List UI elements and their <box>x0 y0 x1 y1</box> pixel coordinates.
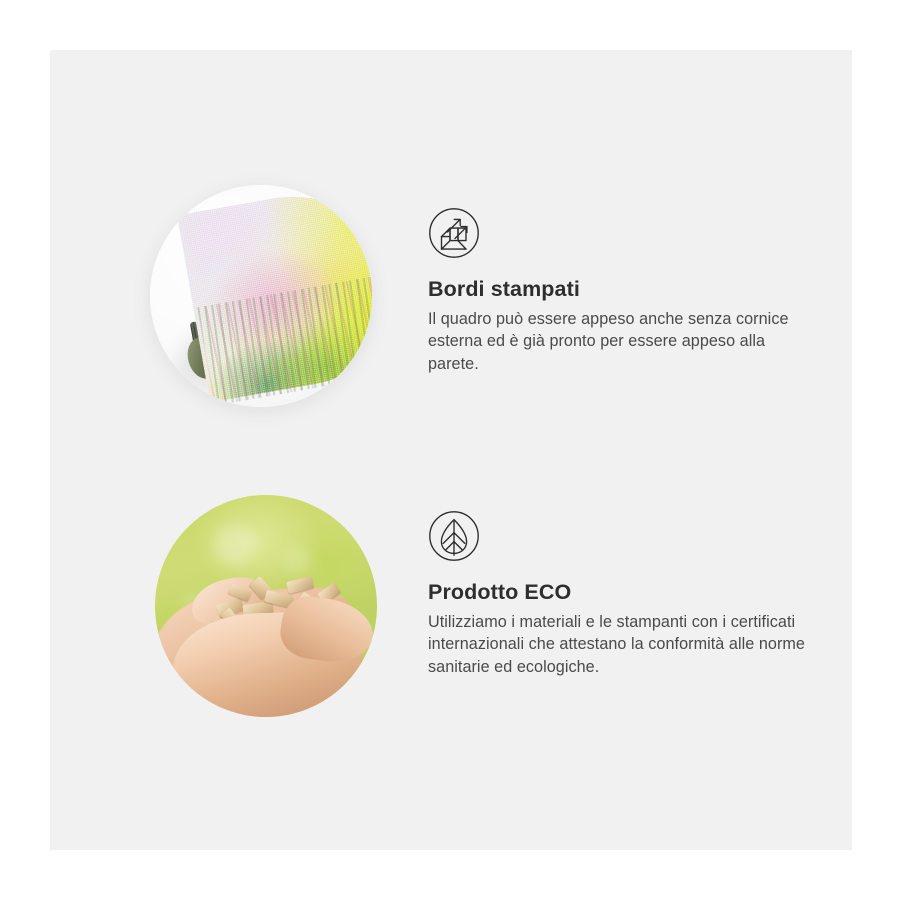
bokeh-highlight <box>283 547 313 575</box>
grass-background <box>155 495 377 717</box>
printed-canvas-corner-photo <box>150 185 372 407</box>
feature-description: Il quadro può essere appeso anche senza … <box>428 308 808 375</box>
product-feature-page: Bordi stampati Il quadro può essere appe… <box>0 0 900 900</box>
feature-title: Prodotto ECO <box>428 580 571 605</box>
hands-holding-wood-chips-photo <box>155 495 377 717</box>
content-panel: Bordi stampati Il quadro può essere appe… <box>50 50 852 850</box>
leaf-icon <box>428 510 480 562</box>
feature-description: Utilizziamo i materiali e le stampanti c… <box>428 611 808 678</box>
feature-title: Bordi stampati <box>428 277 580 302</box>
feature-row-printed-edges: Bordi stampati Il quadro può essere appe… <box>50 185 852 455</box>
feature-row-eco-product: Prodotto ECO Utilizziamo i materiali e l… <box>50 475 852 745</box>
bokeh-highlight <box>213 525 257 565</box>
canvas-slab <box>150 185 372 407</box>
canvas-wrapped-edges-icon <box>428 207 480 259</box>
